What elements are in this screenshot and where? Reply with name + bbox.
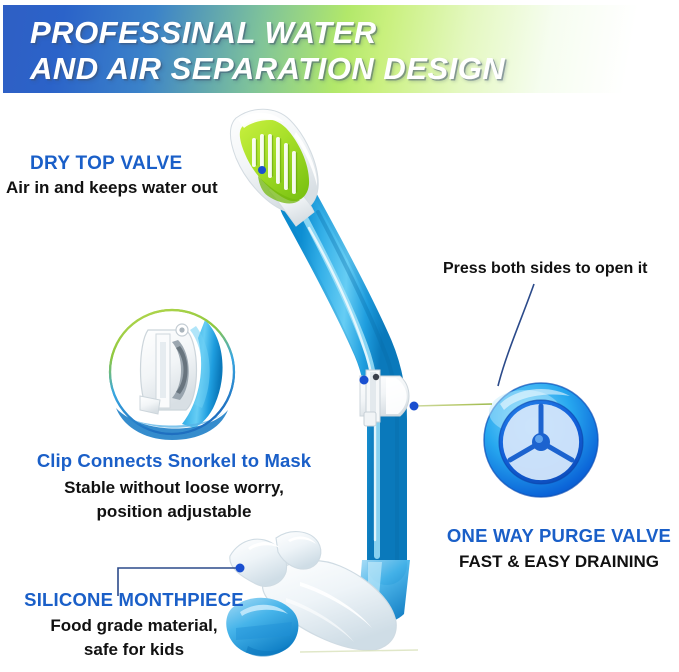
callout-sub-silicone-mouthpiece: Food grade material, safe for kids — [10, 614, 258, 662]
callout-press-both-sides: Press both sides to open it — [443, 258, 647, 280]
callout-clip-connects: Clip Connects Snorkel to Mask Stable wit… — [14, 449, 334, 524]
header-banner: PROFESSINAL WATER AND AIR SEPARATION DES… — [3, 5, 679, 93]
callout-silicone-mouthpiece: SILICONE MONTHPIECE Food grade material,… — [10, 588, 258, 662]
callout-sub-clip-connects: Stable without loose worry, position adj… — [14, 476, 334, 524]
leader-clip-right — [414, 404, 492, 406]
callout-sub-press-both-sides: Press both sides to open it — [443, 258, 647, 280]
infographic-page: PROFESSINAL WATER AND AIR SEPARATION DES… — [0, 0, 679, 672]
banner-title: PROFESSINAL WATER AND AIR SEPARATION DES… — [30, 15, 650, 87]
callout-one-way-purge-valve: ONE WAY PURGE VALVE FAST & EASY DRAINING — [443, 524, 675, 574]
marker-mouthpiece — [236, 564, 245, 573]
callout-sub-dry-top-valve: Air in and keeps water out — [6, 176, 218, 199]
leader-mouthpiece-base — [300, 650, 418, 652]
callout-title-silicone-mouthpiece: SILICONE MONTHPIECE — [10, 588, 258, 612]
marker-dry-top-valve — [258, 166, 266, 174]
leader-lines — [118, 166, 598, 652]
callout-title-dry-top-valve: DRY TOP VALVE — [30, 152, 218, 176]
callout-dry-top-valve: DRY TOP VALVE Air in and keeps water out — [30, 152, 218, 199]
clip-detail-circle — [110, 310, 234, 440]
marker-clip-screw — [373, 374, 379, 380]
callout-sub-one-way-purge-valve: FAST & EASY DRAINING — [443, 550, 675, 574]
callout-title-one-way-purge-valve: ONE WAY PURGE VALVE — [443, 524, 675, 548]
dry-top-valve-part — [230, 109, 318, 226]
purge-valve-detail — [484, 383, 598, 497]
marker-clip-left — [360, 376, 369, 385]
mask-clip-on-tube — [360, 370, 409, 426]
callout-title-clip-connects: Clip Connects Snorkel to Mask — [14, 449, 334, 473]
leader-press-both-sides — [498, 284, 534, 386]
marker-clip-right — [410, 402, 419, 411]
